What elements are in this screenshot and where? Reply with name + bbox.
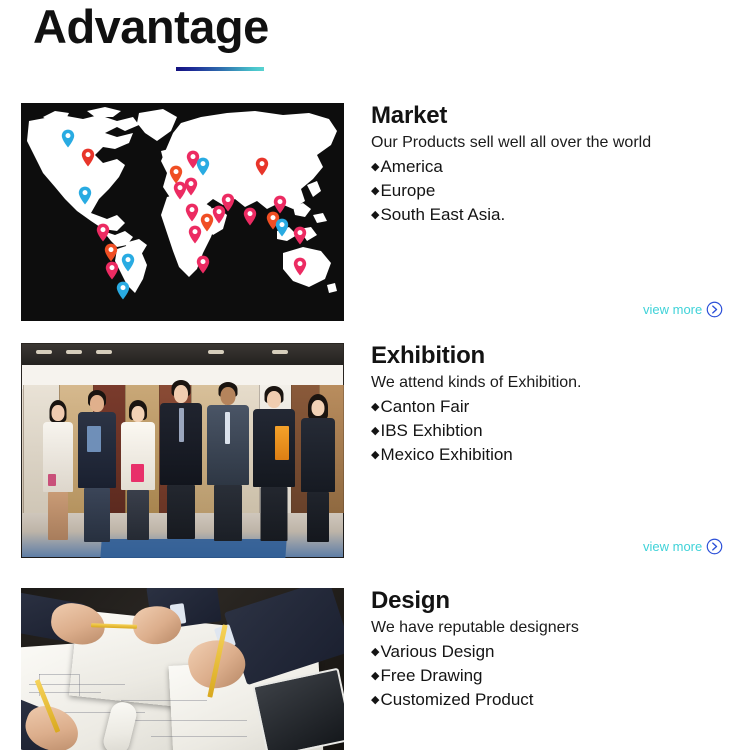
list-item: ◆America xyxy=(371,155,746,179)
map-location-pin xyxy=(121,253,135,272)
list-item: ◆IBS Exhibtion xyxy=(371,419,746,443)
market-text-column: Market Our Products sell well all over t… xyxy=(371,103,746,227)
diamond-bullet-icon: ◆ xyxy=(371,669,379,685)
list-item-label: America xyxy=(380,157,442,176)
person xyxy=(253,386,295,550)
map-location-pin xyxy=(184,177,198,196)
person xyxy=(121,400,155,550)
list-item: ◆Customized Product xyxy=(371,688,746,712)
map-location-pin xyxy=(196,255,210,274)
list-item-label: IBS Exhibtion xyxy=(380,421,482,440)
ceiling-light xyxy=(208,350,224,354)
list-item-label: Customized Product xyxy=(380,690,533,709)
chevron-right-circle-icon xyxy=(706,538,723,555)
map-location-pin xyxy=(78,186,92,205)
diamond-bullet-icon: ◆ xyxy=(371,184,379,200)
design-bullet-list: ◆Various Design ◆Free Drawing ◆Customize… xyxy=(371,640,746,712)
map-location-pin xyxy=(104,243,118,262)
map-location-pin xyxy=(188,225,202,244)
list-item-label: South East Asia. xyxy=(380,205,505,224)
exhibition-bullet-list: ◆Canton Fair ◆IBS Exhibtion ◆Mexico Exhi… xyxy=(371,395,746,467)
exhibition-text-column: Exhibition We attend kinds of Exhibition… xyxy=(371,343,746,467)
world-map-image xyxy=(21,103,344,321)
design-photo xyxy=(21,588,344,750)
diamond-bullet-icon: ◆ xyxy=(371,645,379,661)
diamond-bullet-icon: ◆ xyxy=(371,693,379,709)
ceiling-light xyxy=(66,350,82,354)
person xyxy=(160,380,202,550)
map-location-pin xyxy=(81,148,95,167)
ceiling-light xyxy=(272,350,288,354)
list-item: ◆Free Drawing xyxy=(371,664,746,688)
view-more-link-market[interactable]: view more xyxy=(643,301,723,318)
map-location-pin xyxy=(221,193,235,212)
diamond-bullet-icon: ◆ xyxy=(371,208,379,224)
map-location-pin xyxy=(200,213,214,232)
list-item: ◆Canton Fair xyxy=(371,395,746,419)
list-item-label: Mexico Exhibition xyxy=(380,445,512,464)
section-heading-design: Design xyxy=(371,588,746,615)
chevron-right-circle-icon xyxy=(706,301,723,318)
person xyxy=(207,382,249,550)
map-location-pin xyxy=(243,207,257,226)
map-location-pin xyxy=(185,203,199,222)
section-heading-exhibition: Exhibition xyxy=(371,343,746,370)
map-location-pin xyxy=(61,129,75,148)
section-subtitle-design: We have reputable designers xyxy=(371,616,746,639)
list-item-label: Free Drawing xyxy=(380,666,482,685)
exhibition-photo xyxy=(21,343,344,558)
page-title: Advantage xyxy=(33,2,269,53)
person xyxy=(43,400,73,550)
map-location-pin xyxy=(105,261,119,280)
map-canvas xyxy=(21,103,344,321)
diamond-bullet-icon: ◆ xyxy=(371,448,379,464)
diamond-bullet-icon: ◆ xyxy=(371,160,379,176)
list-item-label: Europe xyxy=(380,181,435,200)
diamond-bullet-icon: ◆ xyxy=(371,400,379,416)
view-more-label: view more xyxy=(643,302,702,317)
person xyxy=(78,390,116,550)
list-item: ◆Mexico Exhibition xyxy=(371,443,746,467)
person xyxy=(301,394,335,550)
booth-ceiling xyxy=(22,344,343,366)
section-subtitle-market: Our Products sell well all over the worl… xyxy=(371,131,746,154)
list-item: ◆South East Asia. xyxy=(371,203,746,227)
diamond-bullet-icon: ◆ xyxy=(371,424,379,440)
design-scene xyxy=(21,588,344,750)
map-location-pin xyxy=(293,257,307,276)
list-item-label: Canton Fair xyxy=(380,397,469,416)
map-location-pin xyxy=(273,195,287,214)
exhibition-scene xyxy=(21,343,344,558)
list-item-label: Various Design xyxy=(380,642,494,661)
view-more-link-exhibition[interactable]: view more xyxy=(643,538,723,555)
section-heading-market: Market xyxy=(371,103,746,130)
list-item: ◆Europe xyxy=(371,179,746,203)
ceiling-light xyxy=(96,350,112,354)
market-bullet-list: ◆America ◆Europe ◆South East Asia. xyxy=(371,155,746,227)
view-more-label: view more xyxy=(643,539,702,554)
title-underline-accent xyxy=(176,67,264,71)
map-location-pin xyxy=(96,223,110,242)
map-location-pin xyxy=(275,218,289,237)
design-text-column: Design We have reputable designers ◆Vari… xyxy=(371,588,746,712)
map-location-pin xyxy=(293,226,307,245)
section-subtitle-exhibition: We attend kinds of Exhibition. xyxy=(371,371,746,394)
list-item: ◆Various Design xyxy=(371,640,746,664)
map-location-pin xyxy=(116,281,130,300)
map-location-pin xyxy=(196,157,210,176)
map-location-pin xyxy=(255,157,269,176)
ceiling-light xyxy=(36,350,52,354)
